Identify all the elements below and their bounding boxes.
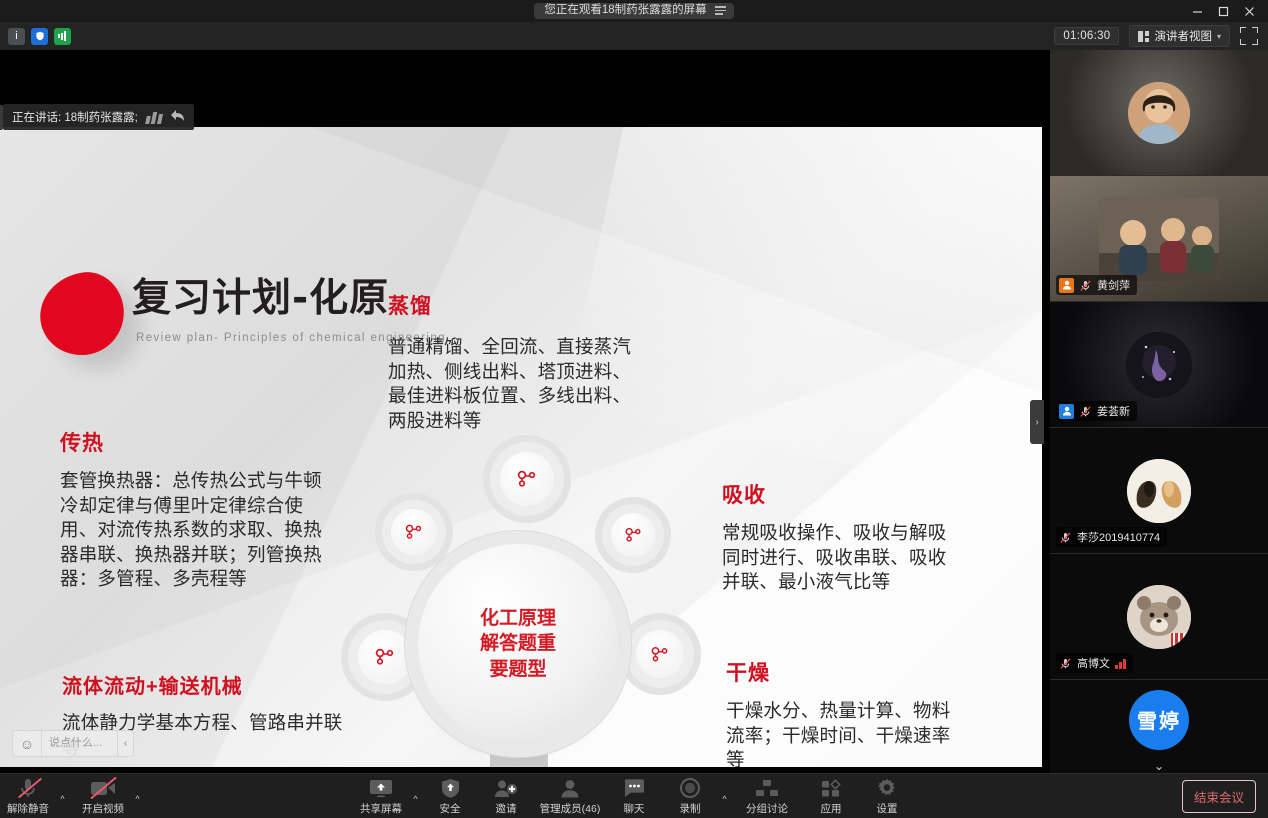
gear-icon — [382, 500, 446, 564]
participant-avatar: 李莎2019410774 — [1050, 428, 1268, 553]
end-meeting-button[interactable]: 结束会议 — [1182, 780, 1256, 813]
zoom-meeting-window: 您正在观看18制药张露露的屏幕 i 01:06:30 — [0, 0, 1268, 818]
active-speaker-toast: 正在讲话: 18制药张露露; — [0, 104, 194, 130]
chat-button[interactable]: 聊天 — [606, 774, 662, 818]
section-heading: 吸收 — [722, 479, 957, 509]
slide-title: 复习计划-化原 — [132, 279, 389, 320]
avatar-cartoon-hands-icon — [1127, 459, 1191, 523]
share-notice-label: 您正在观看18制药张露露的屏幕 — [544, 5, 706, 17]
share-options-caret[interactable]: ^ — [409, 774, 422, 818]
participant-video: 姜荟新 — [1050, 302, 1268, 427]
participant-tile[interactable]: 李莎2019410774 — [1050, 428, 1268, 554]
participants-button[interactable]: 管理成员(46) — [534, 774, 606, 818]
slide-section-heat-transfer: 传热 套管换热器：总传热公式与牛顿冷却定律与傅里叶定律综合使用、对流传热系数的求… — [60, 427, 322, 592]
record-button[interactable]: 录制 — [662, 774, 718, 818]
toolbar-center-group: 共享屏幕 ^ 安全 邀请 管理成员(46) — [353, 774, 915, 818]
breakout-rooms-label: 分组讨论 — [746, 801, 788, 816]
screen-share-notice[interactable]: 您正在观看18制药张露露的屏幕 — [534, 3, 733, 20]
chevron-left-icon[interactable]: ‹ — [117, 731, 133, 756]
audio-level-icon — [146, 111, 162, 124]
avatar-cartoon-animal-icon — [1127, 585, 1191, 649]
gear-icon — [602, 504, 664, 566]
participants-label: 管理成员(46) — [540, 801, 601, 816]
section-heading: 流体流动+输送机械 — [62, 670, 352, 699]
minimize-icon[interactable] — [1184, 0, 1210, 22]
hamburger-icon[interactable] — [715, 6, 726, 15]
slide-section-absorption: 吸收 常规吸收操作、吸收与解吸同时进行、吸收串联、吸收并联、最小液气比等 — [722, 479, 957, 595]
avatar-initials: 雪婷 — [1137, 705, 1181, 734]
participant-name-chip: 李莎2019410774 — [1056, 527, 1167, 547]
info-icon[interactable]: i — [8, 28, 25, 45]
signal-bars-icon[interactable] — [54, 28, 71, 45]
shield-icon[interactable] — [31, 28, 48, 45]
participant-name: 黄剑萍 — [1097, 277, 1130, 293]
video-options-caret[interactable]: ^ — [131, 774, 144, 818]
participant-tile[interactable] — [1050, 50, 1268, 176]
participant-tile[interactable]: 黄剑萍 — [1050, 176, 1268, 302]
audio-button[interactable]: 解除静音 — [0, 774, 56, 818]
invite-label: 邀请 — [496, 801, 517, 816]
user-orange-icon — [1059, 278, 1074, 293]
record-label: 录制 — [680, 801, 701, 816]
fullscreen-icon[interactable] — [1240, 27, 1258, 45]
video-dark-stage-icon — [1126, 332, 1192, 398]
toolbar-left-group: 解除静音 ^ 开启视频 ^ — [0, 774, 144, 818]
breakout-rooms-icon — [755, 777, 779, 798]
section-body: 干燥水分、热量计算、物料流率；干燥时间、干燥速率等 — [726, 699, 956, 767]
gear-icon — [877, 777, 897, 798]
mic-off-icon — [18, 777, 38, 798]
center-line-3: 要题型 — [480, 657, 556, 682]
video-label: 开启视频 — [82, 801, 124, 816]
participant-name: 高博文 — [1077, 655, 1110, 671]
section-body: 普通精馏、全回流、直接蒸汽加热、侧线出料、塔顶进料、最佳进料板位置、多线出料、两… — [388, 335, 636, 433]
participant-avatar: 高博文 — [1050, 554, 1268, 679]
chat-label: 聊天 — [624, 801, 645, 816]
center-bulb: 化工原理 解答题重 要题型 — [418, 544, 618, 744]
bulb-fins — [493, 766, 545, 767]
mic-off-icon — [1059, 657, 1072, 670]
window-controls — [1184, 0, 1262, 22]
gear-bulb-graphic: 化工原理 解答题重 要题型 — [330, 422, 710, 767]
section-heading: 蒸馏 — [388, 290, 636, 320]
maximize-icon[interactable] — [1210, 0, 1236, 22]
close-icon[interactable] — [1236, 0, 1262, 22]
invite-person-icon — [494, 777, 518, 798]
center-text: 化工原理 解答题重 要题型 — [480, 606, 556, 681]
participant-filmstrip[interactable]: 黄剑萍 — [1050, 50, 1268, 773]
breakout-rooms-button[interactable]: 分组讨论 — [731, 774, 803, 818]
slide-section-distillation: 蒸馏 普通精馏、全回流、直接蒸汽加热、侧线出料、塔顶进料、最佳进料板位置、多线出… — [388, 290, 636, 433]
record-circle-icon — [680, 777, 700, 798]
mic-off-icon — [1059, 531, 1072, 544]
settings-label: 设置 — [877, 801, 898, 816]
status-icon-group: i — [0, 28, 71, 45]
share-screen-icon — [369, 777, 393, 798]
filmstrip-collapse-handle[interactable]: › — [1030, 400, 1044, 444]
toolbar-right-group: 结束会议 — [1182, 774, 1256, 818]
title-bar: 您正在观看18制药张露露的屏幕 — [0, 0, 1268, 22]
participants-icon — [560, 777, 580, 798]
mic-off-icon — [1079, 405, 1092, 418]
speaker-view-icon — [1138, 31, 1149, 42]
video-person-icon — [1128, 82, 1190, 144]
reply-arrow-icon[interactable] — [170, 109, 185, 125]
settings-button[interactable]: 设置 — [859, 774, 915, 818]
view-mode-label: 演讲者视图 — [1154, 28, 1212, 44]
participant-name: 李莎2019410774 — [1077, 529, 1160, 545]
share-screen-button[interactable]: 共享屏幕 — [353, 774, 409, 818]
video-off-icon — [90, 777, 116, 798]
participant-video — [1050, 50, 1268, 175]
share-chat-input[interactable]: 说点什么... — [41, 730, 117, 757]
slide-logo-shape — [35, 268, 130, 361]
participant-tile[interactable]: 姜荟新 — [1050, 302, 1268, 428]
status-right-controls: 01:06:30 演讲者视图 ▾ — [1054, 22, 1268, 50]
invite-button[interactable]: 邀请 — [478, 774, 534, 818]
chevron-down-icon[interactable]: ⌄ — [1050, 759, 1268, 773]
security-label: 安全 — [440, 801, 461, 816]
chevron-right-icon: › — [1035, 417, 1038, 428]
meeting-toolbar: 解除静音 ^ 开启视频 ^ 共享屏幕 ^ — [0, 773, 1268, 818]
meeting-status-bar: i 01:06:30 演讲者视图 ▾ — [0, 22, 1268, 50]
shield-icon — [441, 777, 460, 798]
video-group-icon — [1099, 197, 1219, 281]
view-mode-button[interactable]: 演讲者视图 ▾ — [1129, 25, 1230, 47]
mic-off-icon — [1079, 279, 1092, 292]
chat-bubble-icon — [624, 777, 645, 798]
toast-body: 正在讲话: 18制药张露露; — [3, 104, 194, 130]
participant-tile[interactable]: 雪婷 ⌄ — [1050, 680, 1268, 773]
presentation-slide: 复习计划-化原 Review plan- Principles of chemi… — [0, 127, 1042, 767]
participant-name-chip: 姜荟新 — [1056, 401, 1137, 421]
gear-icon — [490, 442, 564, 516]
participant-video: 黄剑萍 — [1050, 176, 1268, 301]
participant-name: 姜荟新 — [1097, 403, 1130, 419]
audio-options-caret[interactable]: ^ — [56, 774, 69, 818]
share-screen-label: 共享屏幕 — [360, 801, 402, 816]
center-line-2: 解答题重 — [480, 631, 556, 656]
user-blue-icon — [1059, 404, 1074, 419]
section-body: 套管换热器：总传热公式与牛顿冷却定律与傅里叶定律综合使用、对流传热系数的求取、换… — [60, 469, 322, 592]
record-options-caret[interactable]: ^ — [718, 774, 731, 818]
emoji-icon[interactable]: ☺ — [13, 736, 41, 752]
section-body: 常规吸收操作、吸收与解吸同时进行、吸收串联、吸收并联、最小液气比等 — [722, 521, 957, 595]
share-chat-bar[interactable]: ☺ 说点什么... ‹ — [12, 730, 134, 757]
audio-label: 解除静音 — [7, 801, 49, 816]
apps-grid-icon — [821, 777, 842, 798]
gear-icon — [348, 620, 422, 694]
section-heading: 传热 — [60, 427, 322, 457]
bulb-base — [490, 740, 548, 767]
meeting-timer: 01:06:30 — [1054, 27, 1119, 45]
slide-section-drying: 干燥 干燥水分、热量计算、物料流率；干燥时间、干燥速率等 — [726, 657, 956, 767]
gear-icon — [626, 620, 694, 688]
center-line-1: 化工原理 — [480, 606, 556, 631]
participant-name-chip: 高博文 — [1056, 653, 1133, 673]
apps-button[interactable]: 应用 — [803, 774, 859, 818]
shared-screen-stage: 复习计划-化原 Review plan- Principles of chemi… — [0, 50, 1050, 773]
chevron-down-icon: ▾ — [1217, 32, 1221, 41]
signal-bars-icon — [1115, 658, 1126, 669]
apps-label: 应用 — [821, 801, 842, 816]
video-button[interactable]: 开启视频 — [75, 774, 131, 818]
participant-name-chip: 黄剑萍 — [1056, 275, 1137, 295]
participant-tile[interactable]: 高博文 — [1050, 554, 1268, 680]
section-heading: 干燥 — [726, 657, 956, 687]
security-button[interactable]: 安全 — [422, 774, 478, 818]
toast-label: 正在讲话: 18制药张露露; — [12, 109, 138, 125]
